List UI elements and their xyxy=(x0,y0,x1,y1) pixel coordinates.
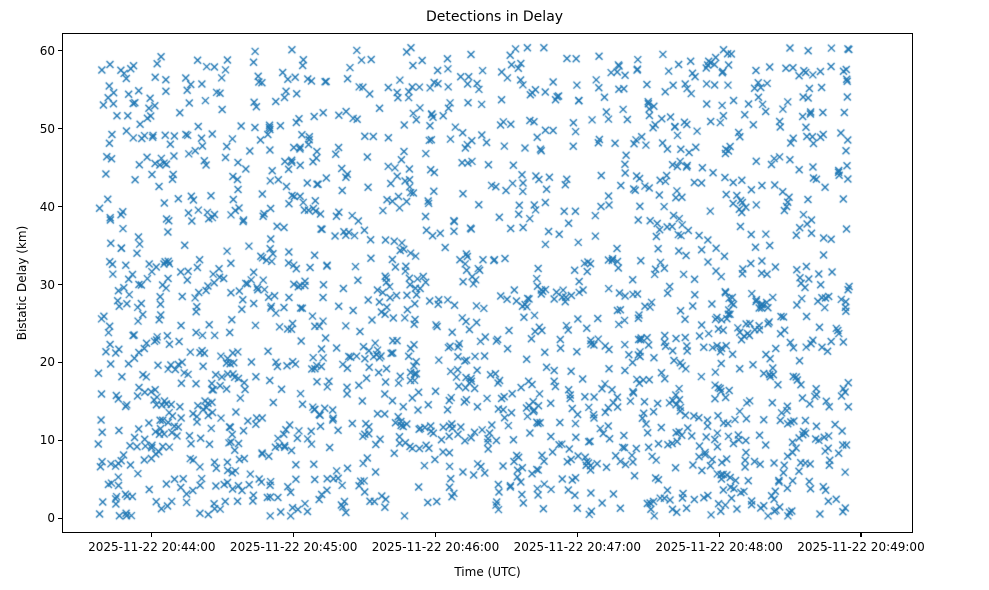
y-tick-mark xyxy=(58,440,62,441)
x-tick-label: 2025-11-22 20:47:00 xyxy=(514,539,641,555)
x-axis-label: Time (UTC) xyxy=(62,564,913,580)
x-tick-mark xyxy=(435,533,436,537)
y-tick-mark xyxy=(58,50,62,51)
x-tick-label: 2025-11-22 20:49:00 xyxy=(797,539,924,555)
y-tick-label: 20 xyxy=(40,354,55,370)
plot-area xyxy=(62,33,913,533)
y-tick-label: 40 xyxy=(40,199,55,215)
y-tick-label: 0 xyxy=(47,510,55,526)
scatter-plot-canvas xyxy=(63,34,912,532)
y-tick-mark xyxy=(58,284,62,285)
y-axis-label: Bistatic Delay (km) xyxy=(14,33,30,533)
page-title: Detections in Delay xyxy=(0,8,989,26)
y-tick-mark xyxy=(58,518,62,519)
y-tick-mark xyxy=(58,206,62,207)
x-tick-mark xyxy=(293,533,294,537)
y-tick-label: 60 xyxy=(40,43,55,59)
x-tick-mark xyxy=(151,533,152,537)
y-tick-label: 10 xyxy=(40,432,55,448)
x-tick-label: 2025-11-22 20:45:00 xyxy=(230,539,357,555)
y-tick-mark xyxy=(58,362,62,363)
y-tick-label: 30 xyxy=(40,277,55,293)
x-tick-label: 2025-11-22 20:44:00 xyxy=(88,539,215,555)
x-tick-label: 2025-11-22 20:48:00 xyxy=(655,539,782,555)
y-tick-mark xyxy=(58,128,62,129)
x-tick-label: 2025-11-22 20:46:00 xyxy=(372,539,499,555)
y-tick-label: 50 xyxy=(40,121,55,137)
x-tick-mark xyxy=(577,533,578,537)
matplotlib-figure: Detections in Delay 0102030405060 2025-1… xyxy=(0,0,989,590)
x-tick-mark xyxy=(719,533,720,537)
x-tick-mark xyxy=(860,533,861,537)
